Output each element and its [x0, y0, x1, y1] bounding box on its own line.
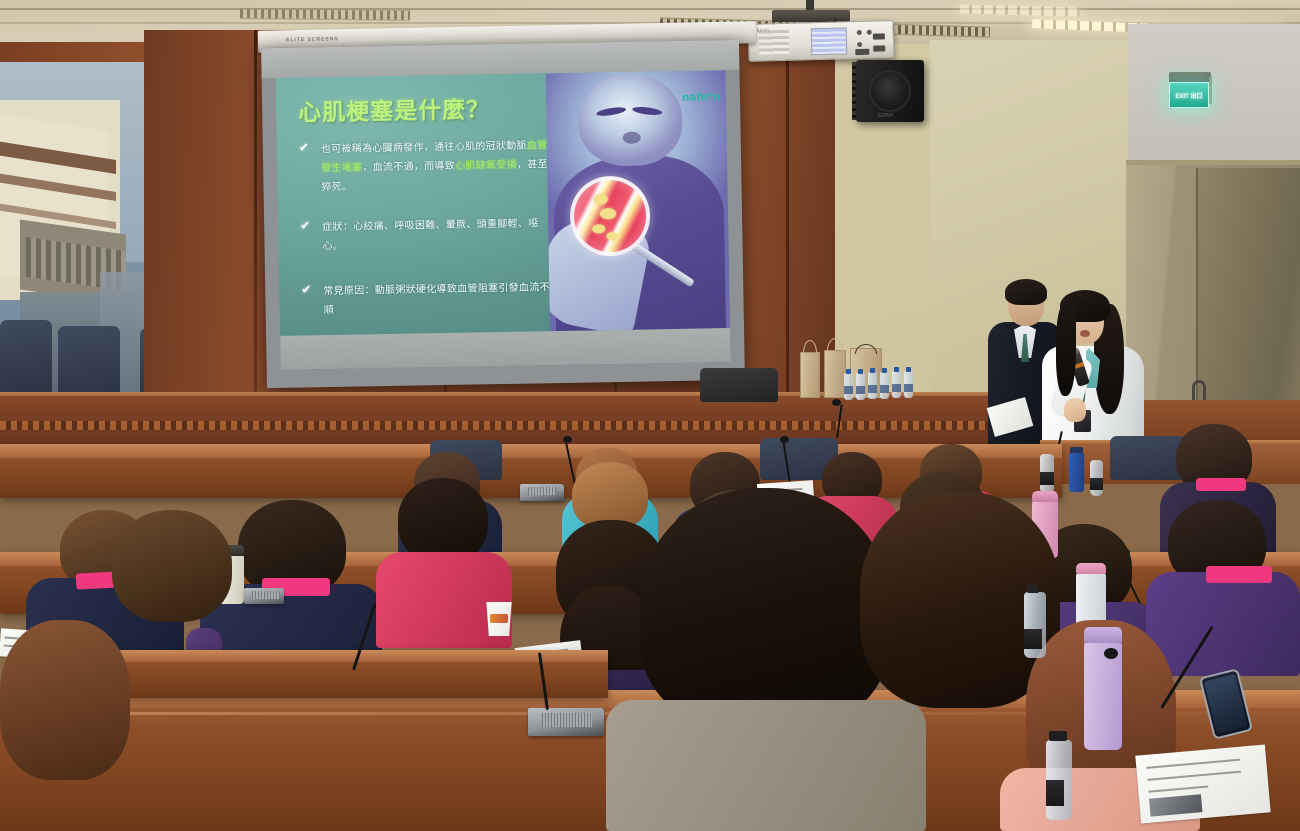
- speaker-cone-icon: [869, 70, 911, 112]
- exit-sign: EXIT 出口: [1167, 72, 1214, 114]
- checkmark-icon-2: ✔: [300, 218, 310, 232]
- gift-bag-2: [824, 350, 846, 398]
- stage-microphone-head: [832, 399, 841, 406]
- projector-bracket: [772, 10, 850, 22]
- brand-logo-nahrin: nahrin: [682, 90, 721, 104]
- handout-fg: [1135, 744, 1270, 823]
- stage-bottle-2: [856, 373, 865, 400]
- slide-bottom-band: [280, 328, 731, 370]
- presenter-hair-left: [1056, 304, 1076, 396]
- stage-front: [0, 396, 1060, 444]
- stage-dentil-moulding: [0, 421, 1060, 430]
- mic-base-r2-a[interactable]: [244, 588, 284, 604]
- audience-head-foreground-left: [0, 620, 130, 780]
- audience-head-c3: [398, 478, 488, 562]
- audience-body-c9: [1146, 572, 1300, 676]
- slide-photo: nahrin: [546, 70, 730, 331]
- screen-brand: ELITE SCREENS: [286, 36, 339, 43]
- presenter-thermos: [1069, 452, 1084, 492]
- mic-base-r3-a[interactable]: [528, 708, 604, 736]
- podium-bottle-2: [1090, 460, 1103, 496]
- audience-collar-b6: [1196, 478, 1246, 491]
- checkmark-icon-3: ✔: [301, 282, 311, 296]
- slide-bullet-3: ✔ 常見原因：動脈粥狀硬化導致血管阻塞引發血流不順: [301, 277, 558, 320]
- projector-grille: [759, 30, 790, 55]
- paper-cup-r2: [484, 602, 514, 636]
- audience-body-foreground-center: [606, 700, 926, 831]
- stage-bottle-5: [892, 371, 901, 398]
- ceiling-projector: BENQ: [748, 20, 895, 62]
- mic-head-fg: [1104, 648, 1118, 659]
- bullet-1-seg-3: 心肌缺氧受損: [455, 160, 517, 172]
- mic-base-r1-a[interactable]: [520, 484, 564, 501]
- exit-sign-rod: [1209, 76, 1212, 104]
- gift-bag-3: [850, 348, 882, 398]
- mic-head-r1-a: [563, 436, 572, 443]
- mic-head-r1-b: [780, 436, 789, 443]
- ceiling-light-2: [960, 5, 1080, 17]
- stage-bottle-4: [880, 372, 889, 399]
- chair-row1-3[interactable]: [1110, 436, 1186, 480]
- slide-bullet-1: ✔ 也可被稱為心臟病發作，通往心肌的冠狀動脈血管發生堵塞，血流不通，而導致心肌缺…: [299, 135, 556, 197]
- slide-title: 心肌梗塞是什麼？: [298, 90, 491, 127]
- presentation-slide: nahrin 心肌梗塞是什麼？ ✔ 也可被稱為心臟病發作，通往心肌的冠狀動脈血管…: [276, 70, 731, 370]
- wall-speaker: SONY: [856, 60, 924, 122]
- audience-head-f0: [112, 510, 232, 622]
- exit-sign-label: EXIT 出口: [1175, 91, 1202, 100]
- presenter-hand: [1064, 398, 1086, 422]
- projection-screen: nahrin 心肌梗塞是什麼？ ✔ 也可被稱為心臟病發作，通往心肌的冠狀動脈血管…: [261, 40, 745, 388]
- slide-bullet-2: ✔ 症狀：心絞痛、呼吸困難、暈厥、頭重腳輕、噁心。: [300, 213, 557, 256]
- stage-bottle-6: [904, 371, 913, 398]
- desk-row-3-back-edge: [88, 650, 608, 698]
- stage-bottle-3: [868, 372, 877, 399]
- chair-back-2[interactable]: [58, 326, 120, 402]
- ceiling-air-grille-2: [240, 8, 410, 21]
- bullet-3-text: 常見原因：動脈粥狀硬化導致血管阻塞引發血流不順: [323, 282, 550, 316]
- audience-collar-c9: [1206, 566, 1272, 583]
- exit-sign-panel: EXIT 出口: [1169, 82, 1209, 108]
- photo-head: [578, 73, 684, 167]
- projector-vent-icon: [811, 27, 848, 55]
- bottle-r1-a: [1040, 454, 1054, 494]
- projector-brand: BENQ: [757, 27, 770, 32]
- stage-bottle-1: [844, 373, 853, 400]
- laptop-bag: [700, 368, 778, 402]
- bottle-fg-1: [1024, 592, 1046, 658]
- slide-bullet-list: ✔ 也可被稱為心臟病發作，通往心肌的冠狀動脈血管發生堵塞，血流不通，而導致心肌缺…: [299, 135, 558, 337]
- bottle-fg-2: [1046, 740, 1072, 820]
- upper-wall-panel: [1128, 24, 1300, 164]
- chair-back-1[interactable]: [0, 320, 52, 398]
- bullet-1-seg-0: 也可被稱為心臟病發作，通往心肌的冠狀動脈: [321, 141, 527, 156]
- checkmark-icon: ✔: [299, 140, 309, 154]
- lecture-hall-photo: EXIT 出口: [0, 0, 1300, 831]
- gift-bag-1: [800, 352, 820, 398]
- bullet-2-text: 症狀：心絞痛、呼吸困難、暈厥、頭重腳輕、噁心。: [322, 218, 538, 252]
- speaker-brand: SONY: [878, 113, 894, 119]
- audience-head-foreground-center: [640, 488, 890, 728]
- bullet-1-seg-2: ，血流不通，而導致: [362, 161, 455, 174]
